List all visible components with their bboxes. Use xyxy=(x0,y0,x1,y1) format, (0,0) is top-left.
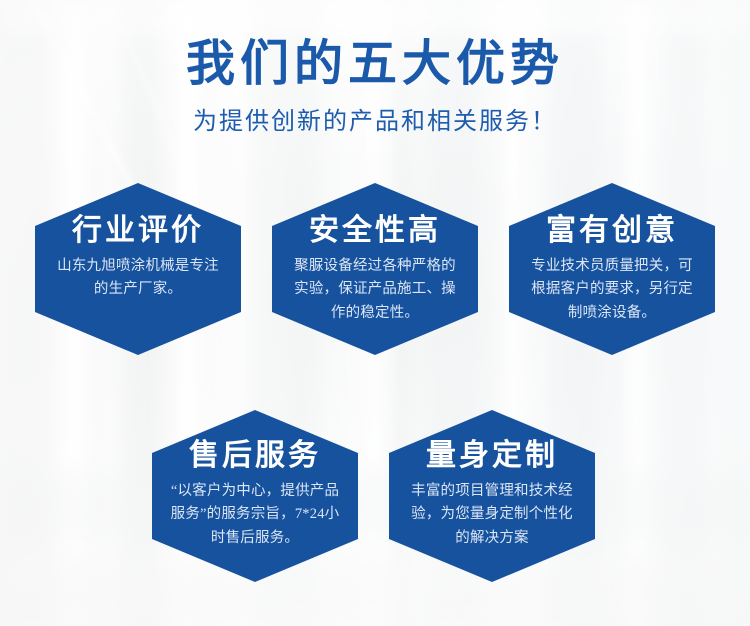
page-subtitle: 为提供创新的产品和相关服务！ xyxy=(0,101,750,136)
advantage-body: 丰富的项目管理和技术经验，为您量身定制个性化的解决方案 xyxy=(404,480,580,550)
advantage-hex-rich-creativity[interactable]: 富有创意 专业技术员质量把关，可根据客户的要求，另行定制喷涂设备。 xyxy=(509,183,715,355)
advantage-body: 聚脲设备经过各种严格的实验，保证产品施工、操作的稳定性。 xyxy=(287,255,463,325)
advantage-body: 专业技术员质量把关，可根据客户的要求，另行定制喷涂设备。 xyxy=(524,255,700,325)
advantage-heading: 售后服务 xyxy=(189,441,321,471)
page-header: 我们的五大优势 为提供创新的产品和相关服务！ xyxy=(0,38,750,136)
advantage-hex-after-sales-service[interactable]: 售后服务 “以客户为中心，提供产品服务”的服务宗旨，7*24小时售后服务。 xyxy=(152,410,358,582)
advantage-heading: 安全性高 xyxy=(309,216,441,246)
advantage-hex-high-safety[interactable]: 安全性高 聚脲设备经过各种严格的实验，保证产品施工、操作的稳定性。 xyxy=(272,183,478,355)
advantage-hex-tailored-customization[interactable]: 量身定制 丰富的项目管理和技术经验，为您量身定制个性化的解决方案 xyxy=(389,410,595,582)
advantage-body: 山东九旭喷涂机械是专注的生产厂家。 xyxy=(50,255,226,302)
page-title: 我们的五大优势 xyxy=(0,38,750,89)
advantage-heading: 富有创意 xyxy=(546,216,678,246)
advantage-heading: 行业评价 xyxy=(72,216,204,246)
advantage-body: “以客户为中心，提供产品服务”的服务宗旨，7*24小时售后服务。 xyxy=(167,480,343,550)
advantage-heading: 量身定制 xyxy=(426,441,558,471)
advantage-hex-industry-evaluation[interactable]: 行业评价 山东九旭喷涂机械是专注的生产厂家。 xyxy=(35,183,241,355)
